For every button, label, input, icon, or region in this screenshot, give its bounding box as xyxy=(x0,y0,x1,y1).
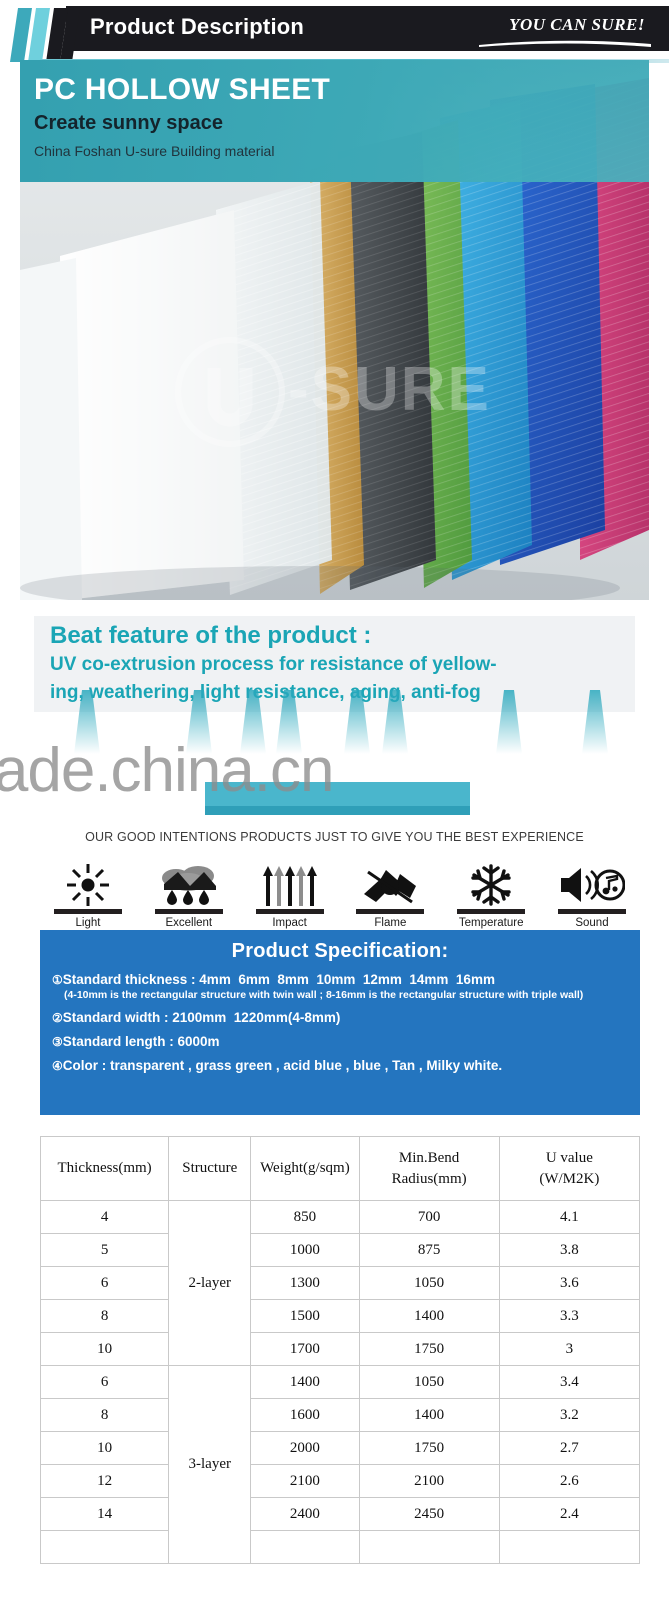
specification-table: Thickness(mm) Structure Weight(g/sqm) Mi… xyxy=(40,1136,640,1564)
hero-company: China Foshan U-sure Building material xyxy=(34,143,274,159)
spec-item-1-text: Standard thickness : 4mm 6mm 8mm 10mm 12… xyxy=(63,972,495,987)
cell-thickness: 10 xyxy=(41,1432,169,1465)
cell-uvalue: 3.2 xyxy=(499,1399,639,1432)
page-title: Product Description xyxy=(90,14,304,40)
spec-item-1-number: ① xyxy=(52,973,63,987)
site-watermark: trade.china.cn xyxy=(0,735,669,815)
icon-underline xyxy=(558,909,626,914)
cell-empty xyxy=(359,1531,499,1564)
icon-underline xyxy=(256,909,324,914)
spec-item-1-note: (4-10mm is the rectangular structure wit… xyxy=(40,989,640,1001)
cell-bend: 1750 xyxy=(359,1432,499,1465)
col-header-line2: (W/M2K) xyxy=(500,1169,639,1189)
icon-underline xyxy=(54,909,122,914)
usure-wordmark: -SURE xyxy=(288,354,491,425)
flame-broken-icon xyxy=(360,864,420,906)
cell-thickness: 5 xyxy=(41,1234,169,1267)
cell-weight: 2000 xyxy=(251,1432,359,1465)
spec-item-4-text: Color : transparent , grass green , acid… xyxy=(63,1058,502,1073)
icon-label-line1: Impact xyxy=(242,916,338,930)
table-row-spacer xyxy=(41,1531,640,1564)
table-row: 6 1300 1050 3.6 xyxy=(41,1267,640,1300)
table-row: 8 1600 1400 3.2 xyxy=(41,1399,640,1432)
spec-item-4: ④Color : transparent , grass green , aci… xyxy=(40,1058,640,1073)
cell-uvalue: 3.4 xyxy=(499,1366,639,1399)
icon-underline xyxy=(155,909,223,914)
feature-line-2: UV co-extrusion process for resistance o… xyxy=(50,654,497,676)
slash-decoration-icon xyxy=(10,6,80,64)
icon-underline xyxy=(356,909,424,914)
table-header-row: Thickness(mm) Structure Weight(g/sqm) Mi… xyxy=(41,1137,640,1201)
col-header-bend-radius: Min.Bend Radius(mm) xyxy=(359,1137,499,1201)
cell-weight: 2100 xyxy=(251,1465,359,1498)
table-row: 4 2-layer 850 700 4.1 xyxy=(41,1201,640,1234)
cell-structure: 2-layer xyxy=(169,1201,251,1366)
spec-item-1: ①Standard thickness : 4mm 6mm 8mm 10mm 1… xyxy=(40,972,640,987)
swoosh-icon xyxy=(479,39,651,47)
col-header-line1: Weight(g/sqm) xyxy=(251,1158,358,1178)
spec-item-2-text: Standard width : 2100mm 1220mm(4-8mm) xyxy=(63,1010,341,1025)
cell-structure: 3-layer xyxy=(169,1366,251,1564)
cell-uvalue: 3.6 xyxy=(499,1267,639,1300)
icon-label-line1: Sound xyxy=(544,916,640,930)
cell-weight: 1300 xyxy=(251,1267,359,1300)
product-specification-box: Product Specification: ①Standard thickne… xyxy=(40,930,640,1115)
col-header-line2: Radius(mm) xyxy=(360,1169,499,1189)
cell-weight: 1000 xyxy=(251,1234,359,1267)
table-row: 5 1000 875 3.8 xyxy=(41,1234,640,1267)
table-row: 14 2400 2450 2.4 xyxy=(41,1498,640,1531)
col-header-line1: Structure xyxy=(169,1158,250,1178)
hero-headline: PC HOLLOW SHEET xyxy=(34,73,330,107)
spec-item-2-number: ② xyxy=(52,1011,63,1025)
spec-item-4-number: ④ xyxy=(52,1059,63,1073)
cell-weight: 1700 xyxy=(251,1333,359,1366)
table-row: 10 1700 1750 3 xyxy=(41,1333,640,1366)
col-header-weight: Weight(g/sqm) xyxy=(251,1137,359,1201)
usure-watermark-logo: -SURE xyxy=(170,332,590,452)
cell-empty xyxy=(41,1531,169,1564)
cell-bend: 1050 xyxy=(359,1366,499,1399)
header-slogan: YOU CAN SURE! xyxy=(509,15,645,35)
spec-item-2: ②Standard width : 2100mm 1220mm(4-8mm) xyxy=(40,1010,640,1025)
cell-weight: 1400 xyxy=(251,1366,359,1399)
cell-thickness: 12 xyxy=(41,1465,169,1498)
page-header: Product Description YOU CAN SURE! xyxy=(0,6,669,54)
cell-empty xyxy=(499,1531,639,1564)
cell-bend: 1750 xyxy=(359,1333,499,1366)
cell-thickness: 8 xyxy=(41,1399,169,1432)
cell-bend: 1400 xyxy=(359,1300,499,1333)
icon-label-line1: Excellent xyxy=(141,916,237,930)
clouds-rain-icon xyxy=(158,864,220,906)
cell-thickness: 6 xyxy=(41,1267,169,1300)
icon-label-line1: Light xyxy=(40,916,136,930)
cell-weight: 2400 xyxy=(251,1498,359,1531)
cell-bend: 1050 xyxy=(359,1267,499,1300)
cell-thickness: 8 xyxy=(41,1300,169,1333)
cell-weight: 1500 xyxy=(251,1300,359,1333)
col-header-u-value: U value (W/M2K) xyxy=(499,1137,639,1201)
icon-underline xyxy=(457,909,525,914)
cell-uvalue: 3 xyxy=(499,1333,639,1366)
hero-banner: PC HOLLOW SHEET Create sunny space China… xyxy=(20,60,649,600)
cell-bend: 1400 xyxy=(359,1399,499,1432)
table-row: 8 1500 1400 3.3 xyxy=(41,1300,640,1333)
hero-subhead: Create sunny space xyxy=(34,112,223,135)
table-row: 10 2000 1750 2.7 xyxy=(41,1432,640,1465)
table-row: 6 3-layer 1400 1050 3.4 xyxy=(41,1366,640,1399)
tagline-text: OUR GOOD INTENTIONS PRODUCTS JUST TO GIV… xyxy=(0,830,669,844)
cell-weight: 850 xyxy=(251,1201,359,1234)
cell-uvalue: 3.8 xyxy=(499,1234,639,1267)
cell-bend: 700 xyxy=(359,1201,499,1234)
col-header-structure: Structure xyxy=(169,1137,251,1201)
cell-bend: 2100 xyxy=(359,1465,499,1498)
icon-label-line1: Temperature xyxy=(443,916,539,930)
usure-circle-icon xyxy=(170,332,290,452)
cell-uvalue: 3.3 xyxy=(499,1300,639,1333)
icon-label-line1: Flame xyxy=(342,916,438,930)
cell-thickness: 6 xyxy=(41,1366,169,1399)
cell-bend: 875 xyxy=(359,1234,499,1267)
sun-icon xyxy=(62,864,114,906)
specification-table-wrap: Thickness(mm) Structure Weight(g/sqm) Mi… xyxy=(40,1136,640,1558)
cell-weight: 1600 xyxy=(251,1399,359,1432)
spec-item-3: ③Standard length : 6000m xyxy=(40,1034,640,1049)
snowflake-icon xyxy=(467,864,515,906)
spec-title: Product Specification: xyxy=(40,930,640,963)
cell-uvalue: 2.7 xyxy=(499,1432,639,1465)
table-row: 12 2100 2100 2.6 xyxy=(41,1465,640,1498)
product-description-page: Product Description YOU CAN SURE! xyxy=(0,0,669,1600)
hero-band: PC HOLLOW SHEET Create sunny space China… xyxy=(20,60,649,182)
feature-title: Beat feature of the product : xyxy=(50,622,371,650)
speaker-note-icon xyxy=(559,864,625,906)
cell-thickness: 10 xyxy=(41,1333,169,1366)
cell-bend: 2450 xyxy=(359,1498,499,1531)
col-header-line1: U value xyxy=(500,1148,639,1168)
cell-uvalue: 2.6 xyxy=(499,1465,639,1498)
cell-thickness: 4 xyxy=(41,1201,169,1234)
cell-uvalue: 2.4 xyxy=(499,1498,639,1531)
up-arrows-icon xyxy=(259,864,321,906)
cell-empty xyxy=(251,1531,359,1564)
col-header-line1: Min.Bend xyxy=(360,1148,499,1168)
col-header-line1: Thickness(mm) xyxy=(41,1158,168,1178)
spec-item-3-number: ③ xyxy=(52,1035,63,1049)
spec-item-3-text: Standard length : 6000m xyxy=(63,1034,220,1049)
cell-uvalue: 4.1 xyxy=(499,1201,639,1234)
cell-thickness: 14 xyxy=(41,1498,169,1531)
col-header-thickness: Thickness(mm) xyxy=(41,1137,169,1201)
